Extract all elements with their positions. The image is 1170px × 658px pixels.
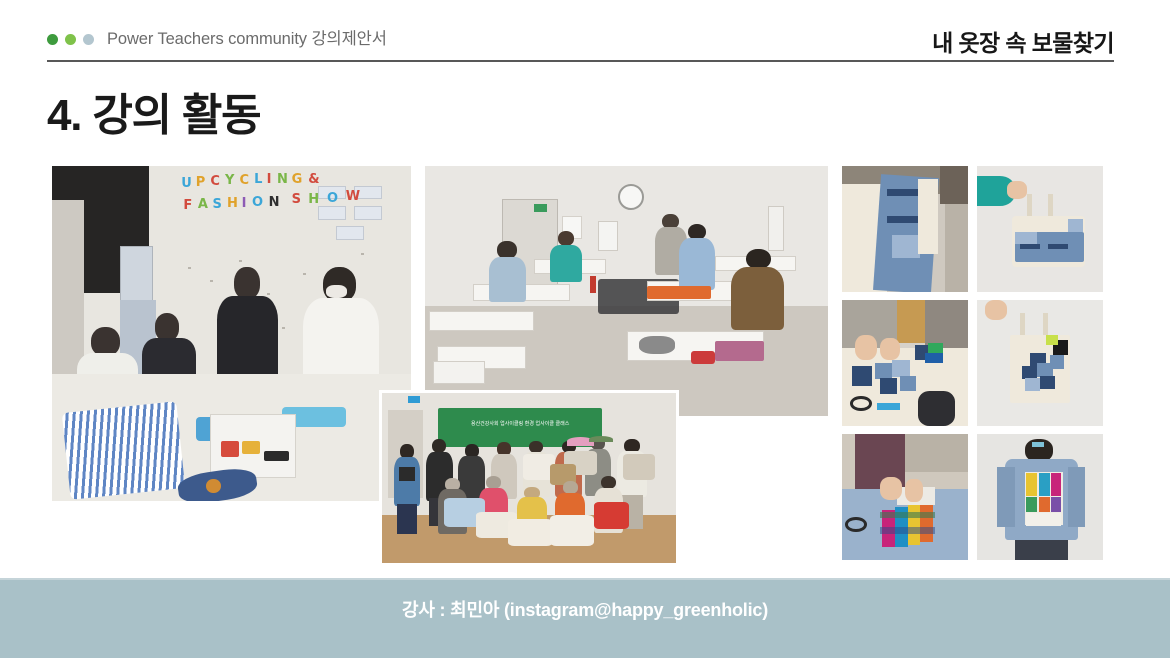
- photo-classroom-sewing-adults: [425, 166, 828, 416]
- footer-text: 강사 : 최민아 (instagram@happy_greenholic): [0, 596, 1170, 622]
- photo-denim-tote-bag-held: [977, 166, 1103, 292]
- photo-workshop-upcycling-fashion-show: U P C Y C L I N G & F A S H I O N: [52, 166, 411, 501]
- footer-top-divider: [0, 578, 1170, 580]
- photo-denim-jacket-patchwork-making: [842, 434, 968, 560]
- photo-group-photo-cushions: 용산건강사회 업사이클링 환경 업사이클 클래스: [379, 390, 679, 566]
- photo-banner-text: 용산건강사회 업사이클링 환경 업사이클 클래스: [438, 421, 603, 429]
- slide-root: Power Teachers community 강의제안서 내 옷장 속 보물…: [0, 0, 1170, 658]
- photo-denim-patch-tote-finished: [977, 300, 1103, 426]
- photo-denim-patch-cutting: [842, 300, 968, 426]
- photo-denim-overall-flat-lay: [842, 166, 968, 292]
- photo-wall-lettering: U P C Y C L I N G & F A S H I O N: [181, 176, 389, 250]
- photo-collage: U P C Y C L I N G & F A S H I O N: [0, 0, 1170, 658]
- photo-denim-jacket-patchwork-worn: [977, 434, 1103, 560]
